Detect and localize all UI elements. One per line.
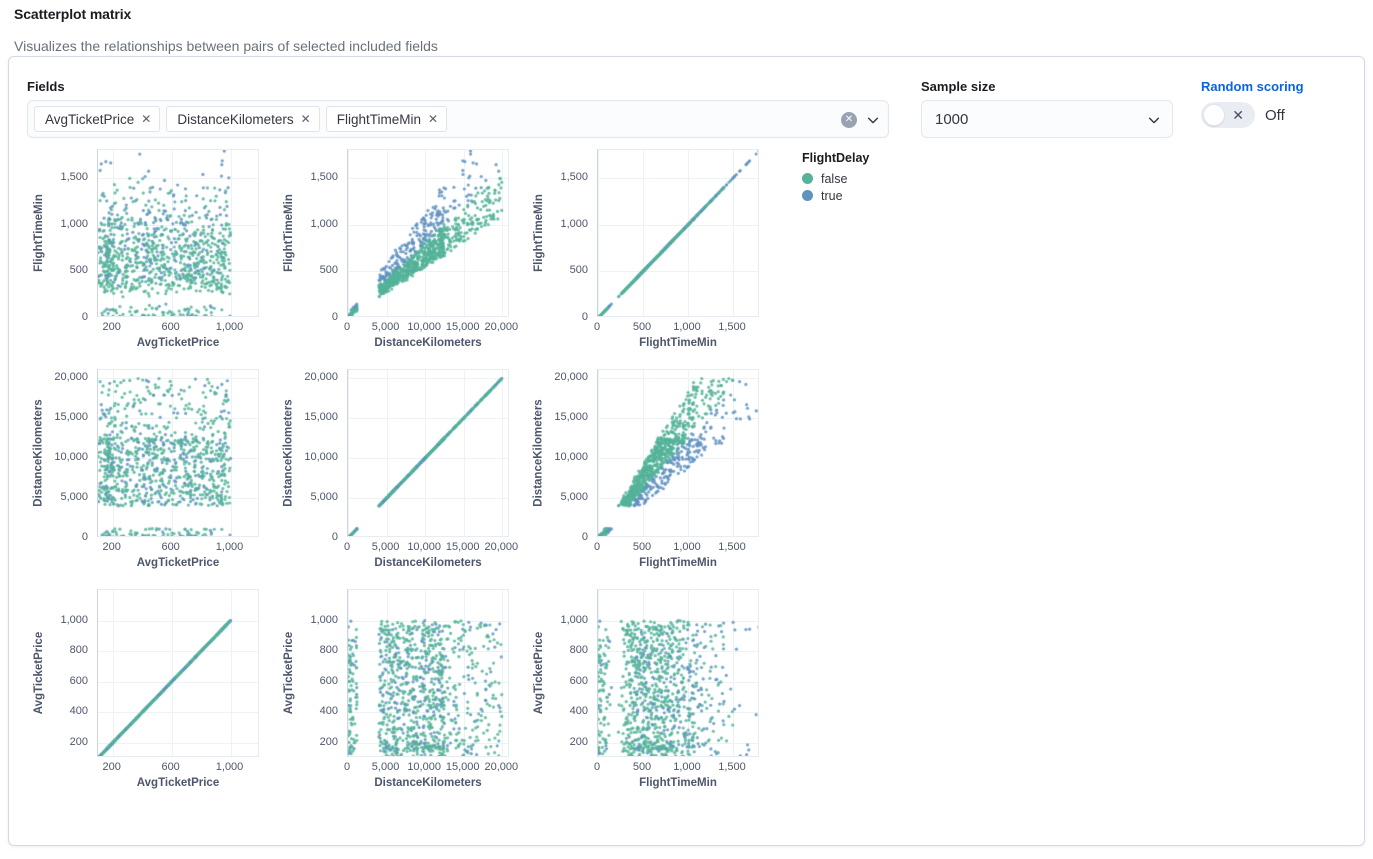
scatter-points — [598, 150, 759, 317]
fields-label: Fields — [27, 79, 889, 94]
y-axis-ticks: 05001,0001,500 — [543, 149, 593, 317]
legend-color-swatch — [802, 173, 813, 184]
random-scoring-group: Random scoring ✕ Off — [1201, 79, 1304, 134]
matrix-cell: FlightTimeMin05001,0001,5002006001,000Av… — [27, 149, 277, 369]
x-tick-label: 1,000 — [673, 321, 701, 333]
field-pill[interactable]: FlightTimeMin✕ — [326, 106, 447, 132]
x-tick-label: 1,500 — [718, 321, 746, 333]
scatter-plot[interactable] — [97, 369, 259, 537]
y-tick-label: 800 — [570, 644, 588, 656]
field-pill[interactable]: DistanceKilometers✕ — [166, 106, 319, 132]
legend: FlightDelay falsetrue — [802, 151, 869, 204]
y-tick-label: 15,000 — [554, 411, 588, 423]
switch-knob — [1203, 104, 1225, 126]
y-axis-ticks: 05,00010,00015,00020,000 — [543, 369, 593, 537]
clear-fields-icon[interactable]: ✕ — [841, 112, 857, 128]
y-tick-label: 1,000 — [560, 614, 588, 626]
x-axis-label: DistanceKilometers — [347, 337, 509, 349]
x-axis-ticks: 05,00010,00015,00020,000 — [347, 319, 509, 335]
y-tick-label: 400 — [570, 705, 588, 717]
x-tick-label: 5,000 — [372, 321, 400, 333]
random-scoring-switch[interactable]: ✕ — [1201, 102, 1255, 128]
chevron-down-icon[interactable] — [866, 113, 880, 127]
scatter-points — [598, 370, 759, 537]
x-axis-ticks: 05001,0001,500 — [597, 759, 759, 775]
legend-item-label: true — [821, 189, 843, 203]
y-axis-ticks: 2004006008001,000 — [543, 589, 593, 757]
y-tick-label: 0 — [332, 531, 338, 543]
scatter-points — [348, 370, 509, 537]
x-tick-label: 500 — [633, 761, 651, 773]
y-tick-label: 500 — [70, 264, 88, 276]
x-tick-label: 0 — [344, 761, 350, 773]
x-tick-label: 1,000 — [673, 761, 701, 773]
x-tick-label: 0 — [594, 761, 600, 773]
scatter-plot[interactable] — [97, 149, 259, 317]
y-axis-ticks: 2004006008001,000 — [43, 589, 93, 757]
sample-size-select[interactable]: 1000 — [921, 100, 1173, 138]
field-pill-label: AvgTicketPrice — [45, 112, 134, 127]
y-tick-label: 10,000 — [554, 451, 588, 463]
y-axis-ticks: 05,00010,00015,00020,000 — [293, 369, 343, 537]
y-tick-label: 1,000 — [60, 218, 88, 230]
y-tick-label: 500 — [320, 264, 338, 276]
y-tick-label: 0 — [582, 531, 588, 543]
matrix-cell: AvgTicketPrice2004006008001,00005,00010,… — [277, 589, 527, 817]
legend-color-swatch — [802, 190, 813, 201]
y-tick-label: 15,000 — [304, 411, 338, 423]
scatter-plot[interactable] — [347, 149, 509, 317]
scatter-points — [98, 370, 259, 537]
y-tick-label: 0 — [582, 311, 588, 323]
x-axis-label: FlightTimeMin — [597, 777, 759, 789]
y-tick-label: 200 — [570, 736, 588, 748]
field-pill-label: DistanceKilometers — [177, 112, 293, 127]
x-tick-label: 1,000 — [216, 321, 244, 333]
matrix-cell: AvgTicketPrice2004006008001,0002006001,0… — [27, 589, 277, 817]
matrix-cell: DistanceKilometers05,00010,00015,00020,0… — [277, 369, 527, 589]
y-tick-label: 1,000 — [310, 218, 338, 230]
legend-items: falsetrue — [802, 170, 869, 204]
x-tick-label: 500 — [633, 321, 651, 333]
x-axis-label: AvgTicketPrice — [97, 337, 259, 349]
remove-field-icon[interactable]: ✕ — [141, 113, 151, 125]
combobox-actions: ✕ — [841, 101, 880, 139]
x-axis-ticks: 2006001,000 — [97, 759, 259, 775]
fields-pill-list: AvgTicketPrice✕DistanceKilometers✕Flight… — [34, 106, 447, 132]
legend-title: FlightDelay — [802, 151, 869, 165]
random-scoring-label[interactable]: Random scoring — [1201, 79, 1304, 94]
matrix-cell: AvgTicketPrice2004006008001,00005001,000… — [527, 589, 777, 817]
random-scoring-toggle-row: ✕ Off — [1201, 96, 1304, 134]
scatterplot-matrix: FlightTimeMin05001,0001,5002006001,000Av… — [9, 149, 1364, 817]
x-tick-label: 200 — [103, 541, 121, 553]
scatter-points — [348, 590, 509, 757]
y-tick-label: 1,500 — [560, 171, 588, 183]
scatter-plot[interactable] — [97, 589, 259, 757]
x-axis-label: AvgTicketPrice — [97, 777, 259, 789]
scatter-plot[interactable] — [347, 589, 509, 757]
sample-size-label: Sample size — [921, 79, 1173, 94]
x-axis-ticks: 2006001,000 — [97, 539, 259, 555]
y-axis-ticks: 05001,0001,500 — [43, 149, 93, 317]
sample-size-value: 1000 — [935, 111, 968, 128]
y-tick-label: 0 — [82, 311, 88, 323]
x-tick-label: 1,000 — [673, 541, 701, 553]
y-tick-label: 0 — [82, 531, 88, 543]
x-tick-label: 500 — [633, 541, 651, 553]
matrix-cell: FlightTimeMin05001,0001,50005,00010,0001… — [277, 149, 527, 369]
scatter-points — [598, 590, 759, 757]
y-tick-label: 800 — [320, 644, 338, 656]
x-axis-label: AvgTicketPrice — [97, 557, 259, 569]
y-tick-label: 20,000 — [54, 371, 88, 383]
x-tick-label: 20,000 — [484, 761, 518, 773]
x-tick-label: 15,000 — [446, 541, 480, 553]
legend-item[interactable]: false — [802, 170, 869, 187]
remove-field-icon[interactable]: ✕ — [428, 113, 438, 125]
y-tick-label: 600 — [320, 675, 338, 687]
x-tick-label: 15,000 — [446, 761, 480, 773]
x-tick-label: 10,000 — [407, 761, 441, 773]
page-subtitle: Visualizes the relationships between pai… — [8, 22, 1365, 54]
scatterplot-matrix-card: Fields AvgTicketPrice✕DistanceKilometers… — [8, 56, 1365, 846]
y-tick-label: 5,000 — [560, 491, 588, 503]
y-tick-label: 10,000 — [304, 451, 338, 463]
y-tick-label: 400 — [320, 705, 338, 717]
x-tick-label: 200 — [103, 321, 121, 333]
page-title: Scatterplot matrix — [8, 0, 1365, 22]
x-axis-ticks: 05,00010,00015,00020,000 — [347, 539, 509, 555]
close-icon: ✕ — [1232, 106, 1244, 124]
x-tick-label: 20,000 — [484, 321, 518, 333]
y-tick-label: 1,000 — [60, 614, 88, 626]
x-tick-label: 5,000 — [372, 761, 400, 773]
x-tick-label: 20,000 — [484, 541, 518, 553]
scatter-points — [98, 590, 259, 757]
x-axis-ticks: 05001,0001,500 — [597, 319, 759, 335]
scatter-plot[interactable] — [597, 369, 759, 537]
y-tick-label: 1,000 — [310, 614, 338, 626]
y-tick-label: 5,000 — [60, 491, 88, 503]
field-pill[interactable]: AvgTicketPrice✕ — [34, 106, 160, 132]
y-tick-label: 15,000 — [54, 411, 88, 423]
x-tick-label: 1,000 — [216, 761, 244, 773]
x-axis-ticks: 2006001,000 — [97, 319, 259, 335]
x-tick-label: 5,000 — [372, 541, 400, 553]
y-tick-label: 600 — [570, 675, 588, 687]
matrix-grid: FlightTimeMin05001,0001,5002006001,000Av… — [9, 149, 1364, 817]
x-axis-label: DistanceKilometers — [347, 777, 509, 789]
scatter-plot[interactable] — [597, 589, 759, 757]
x-axis-label: DistanceKilometers — [347, 557, 509, 569]
y-tick-label: 0 — [332, 311, 338, 323]
x-axis-ticks: 05,00010,00015,00020,000 — [347, 759, 509, 775]
fields-group: Fields AvgTicketPrice✕DistanceKilometers… — [27, 79, 889, 138]
y-axis-ticks: 2004006008001,000 — [293, 589, 343, 757]
y-tick-label: 10,000 — [54, 451, 88, 463]
remove-field-icon[interactable]: ✕ — [301, 113, 311, 125]
y-tick-label: 500 — [570, 264, 588, 276]
y-axis-ticks: 05001,0001,500 — [293, 149, 343, 317]
x-tick-label: 600 — [161, 321, 179, 333]
y-tick-label: 20,000 — [554, 371, 588, 383]
x-tick-label: 600 — [161, 541, 179, 553]
x-tick-label: 200 — [103, 761, 121, 773]
y-tick-label: 5,000 — [310, 491, 338, 503]
scatter-points — [98, 150, 259, 317]
controls-bar: Fields AvgTicketPrice✕DistanceKilometers… — [9, 57, 1364, 149]
x-tick-label: 0 — [594, 541, 600, 553]
x-axis-label: FlightTimeMin — [597, 557, 759, 569]
x-axis-label: FlightTimeMin — [597, 337, 759, 349]
matrix-cell: FlightTimeMin05001,0001,50005001,0001,50… — [527, 149, 777, 369]
x-tick-label: 1,000 — [216, 541, 244, 553]
y-tick-label: 200 — [320, 736, 338, 748]
x-tick-label: 10,000 — [407, 541, 441, 553]
y-tick-label: 1,500 — [60, 171, 88, 183]
y-axis-ticks: 05,00010,00015,00020,000 — [43, 369, 93, 537]
x-tick-label: 0 — [344, 321, 350, 333]
matrix-cell: DistanceKilometers05,00010,00015,00020,0… — [27, 369, 277, 589]
x-tick-label: 1,500 — [718, 761, 746, 773]
scatter-points — [348, 150, 509, 317]
x-tick-label: 15,000 — [446, 321, 480, 333]
fields-combobox[interactable]: AvgTicketPrice✕DistanceKilometers✕Flight… — [27, 100, 889, 138]
y-tick-label: 1,500 — [310, 171, 338, 183]
x-tick-label: 0 — [344, 541, 350, 553]
random-scoring-state: Off — [1265, 107, 1285, 124]
matrix-cell: DistanceKilometers05,00010,00015,00020,0… — [527, 369, 777, 589]
scatter-plot[interactable] — [347, 369, 509, 537]
legend-item-label: false — [821, 172, 847, 186]
y-tick-label: 200 — [70, 736, 88, 748]
chevron-down-icon[interactable] — [1147, 113, 1161, 127]
x-tick-label: 0 — [594, 321, 600, 333]
y-tick-label: 400 — [70, 705, 88, 717]
field-pill-label: FlightTimeMin — [337, 112, 421, 127]
x-tick-label: 1,500 — [718, 541, 746, 553]
scatterplot-matrix-page: Scatterplot matrix Visualizes the relati… — [0, 0, 1373, 859]
sample-size-group: Sample size 1000 — [921, 79, 1173, 138]
legend-item[interactable]: true — [802, 187, 869, 204]
y-tick-label: 20,000 — [304, 371, 338, 383]
y-tick-label: 1,000 — [560, 218, 588, 230]
scatter-plot[interactable] — [597, 149, 759, 317]
y-tick-label: 800 — [70, 644, 88, 656]
x-tick-label: 600 — [161, 761, 179, 773]
y-tick-label: 600 — [70, 675, 88, 687]
x-axis-ticks: 05001,0001,500 — [597, 539, 759, 555]
x-tick-label: 10,000 — [407, 321, 441, 333]
